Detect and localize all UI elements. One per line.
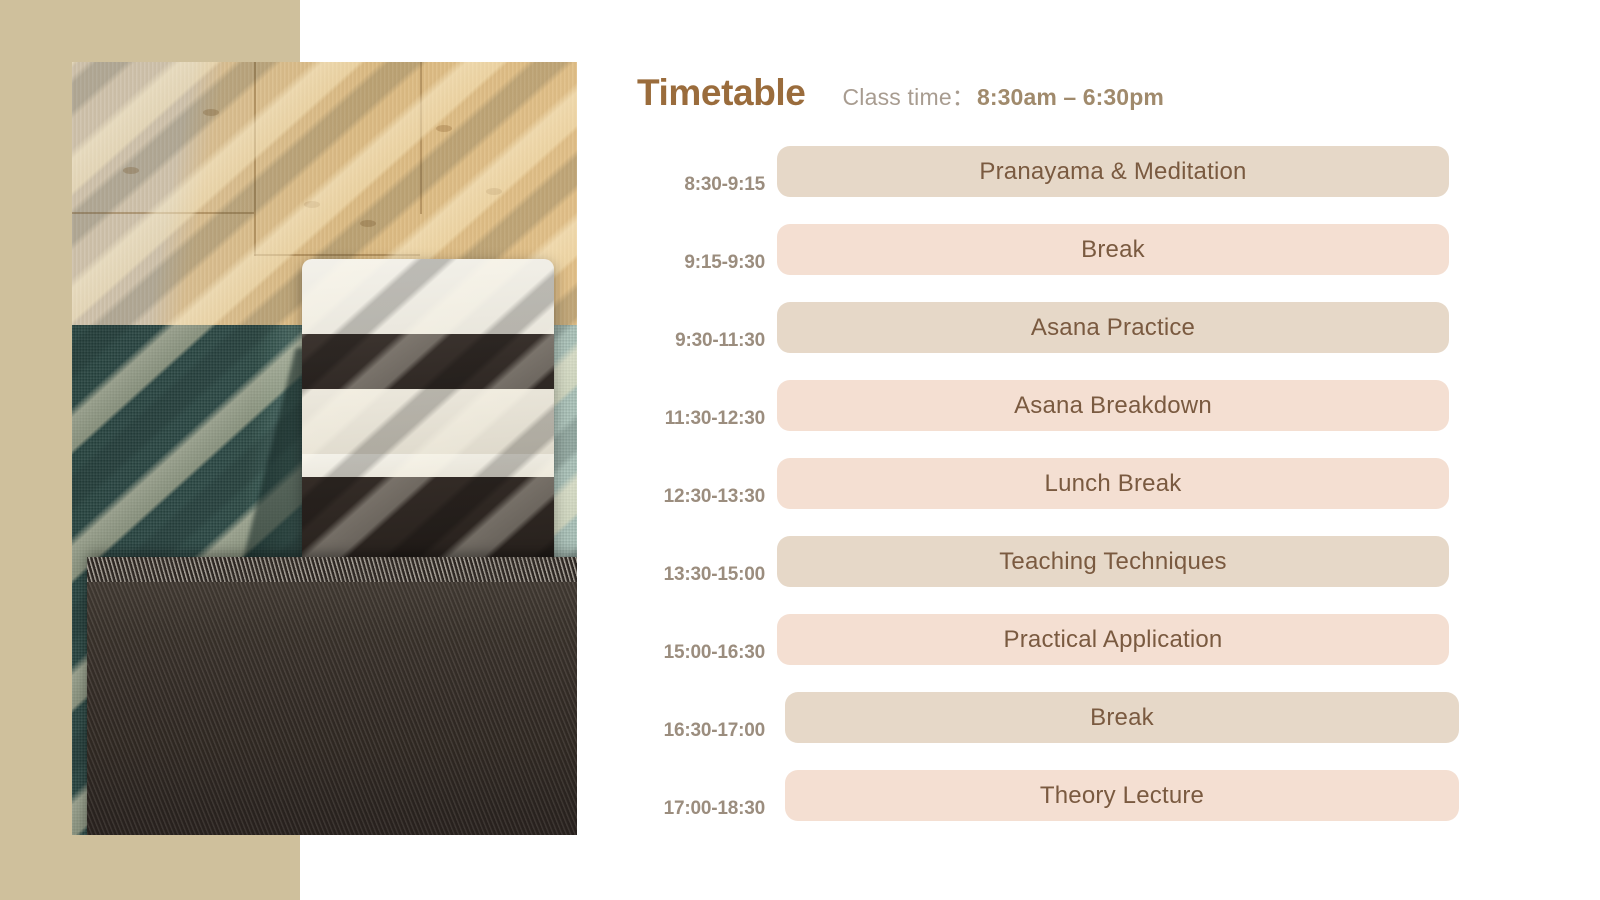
schedule-row-activity: Practical Application (1004, 626, 1223, 654)
schedule-row-time: 12:30-13:30 (637, 486, 765, 508)
schedule-row-bar[interactable]: Pranayama & Meditation (777, 146, 1449, 197)
schedule-row-bar[interactable]: Lunch Break (777, 458, 1449, 509)
page-title: Timetable (637, 74, 805, 111)
schedule-row-time: 15:00-16:30 (637, 642, 765, 664)
schedule-row-time: 9:15-9:30 (637, 252, 765, 274)
class-time-value: 8:30am – 6:30pm (977, 86, 1164, 109)
schedule-row-activity: Asana Practice (1031, 314, 1195, 342)
wood-knot (304, 201, 320, 208)
schedule-row: 9:15-9:30Break (637, 224, 1537, 302)
schedule-row-activity: Theory Lecture (1040, 782, 1204, 810)
wood-knot (436, 125, 452, 132)
plank-seam (254, 254, 421, 256)
plank-seam (72, 212, 254, 214)
schedule-row-bar[interactable]: Break (777, 224, 1449, 275)
schedule-row-bar[interactable]: Break (785, 692, 1459, 743)
schedule-row-activity: Asana Breakdown (1014, 392, 1212, 420)
wood-knot (203, 109, 219, 116)
schedule-row-activity: Teaching Techniques (999, 548, 1227, 576)
class-time-subtitle: Class time： 8:30am – 6:30pm (842, 86, 1163, 109)
wood-knot (486, 188, 502, 195)
schedule-row: 12:30-13:30Lunch Break (637, 458, 1537, 536)
schedule-row-bar[interactable]: Asana Breakdown (777, 380, 1449, 431)
timetable-header: Timetable Class time： 8:30am – 6:30pm (637, 74, 1164, 111)
schedule-row-bar[interactable]: Asana Practice (777, 302, 1449, 353)
schedule-row: 13:30-15:00Teaching Techniques (637, 536, 1537, 614)
blanket-edge (87, 557, 577, 582)
timetable-panel: Timetable Class time： 8:30am – 6:30pm 8:… (637, 0, 1537, 900)
schedule-row-time: 13:30-15:00 (637, 564, 765, 586)
schedule-row: 9:30-11:30Asana Practice (637, 302, 1537, 380)
schedule-row-bar[interactable]: Practical Application (777, 614, 1449, 665)
schedule-row-activity: Break (1090, 704, 1154, 732)
photo-inner (72, 62, 577, 835)
class-time-label: Class time： (842, 86, 975, 109)
wood-knot (360, 220, 376, 227)
schedule-row-activity: Break (1081, 236, 1145, 264)
schedule-row: 15:00-16:30Practical Application (637, 614, 1537, 692)
schedule-row-time: 8:30-9:15 (637, 174, 765, 196)
wood-knot (123, 167, 139, 174)
yoga-blocks-stack (302, 259, 555, 584)
schedule-row-activity: Lunch Break (1045, 470, 1182, 498)
schedule-row-time: 16:30-17:00 (637, 720, 765, 742)
schedule-row-bar[interactable]: Theory Lecture (785, 770, 1459, 821)
schedule-row-time: 11:30-12:30 (637, 408, 765, 430)
blocks-light-overlay (302, 259, 555, 584)
plank-seam (420, 62, 422, 214)
schedule-row-time: 17:00-18:30 (637, 798, 765, 820)
rolled-blanket (87, 557, 577, 835)
schedule-row-time: 9:30-11:30 (637, 330, 765, 352)
schedule-list: 8:30-9:15Pranayama & Meditation9:15-9:30… (637, 146, 1537, 848)
plank-seam (254, 62, 256, 256)
schedule-row: 11:30-12:30Asana Breakdown (637, 380, 1537, 458)
schedule-row: 16:30-17:00Break (637, 692, 1537, 770)
schedule-row-bar[interactable]: Teaching Techniques (777, 536, 1449, 587)
yoga-studio-photo (72, 62, 577, 835)
schedule-row: 8:30-9:15Pranayama & Meditation (637, 146, 1537, 224)
slide-canvas: Timetable Class time： 8:30am – 6:30pm 8:… (0, 0, 1600, 900)
schedule-row-activity: Pranayama & Meditation (979, 158, 1246, 186)
schedule-row: 17:00-18:30Theory Lecture (637, 770, 1537, 848)
